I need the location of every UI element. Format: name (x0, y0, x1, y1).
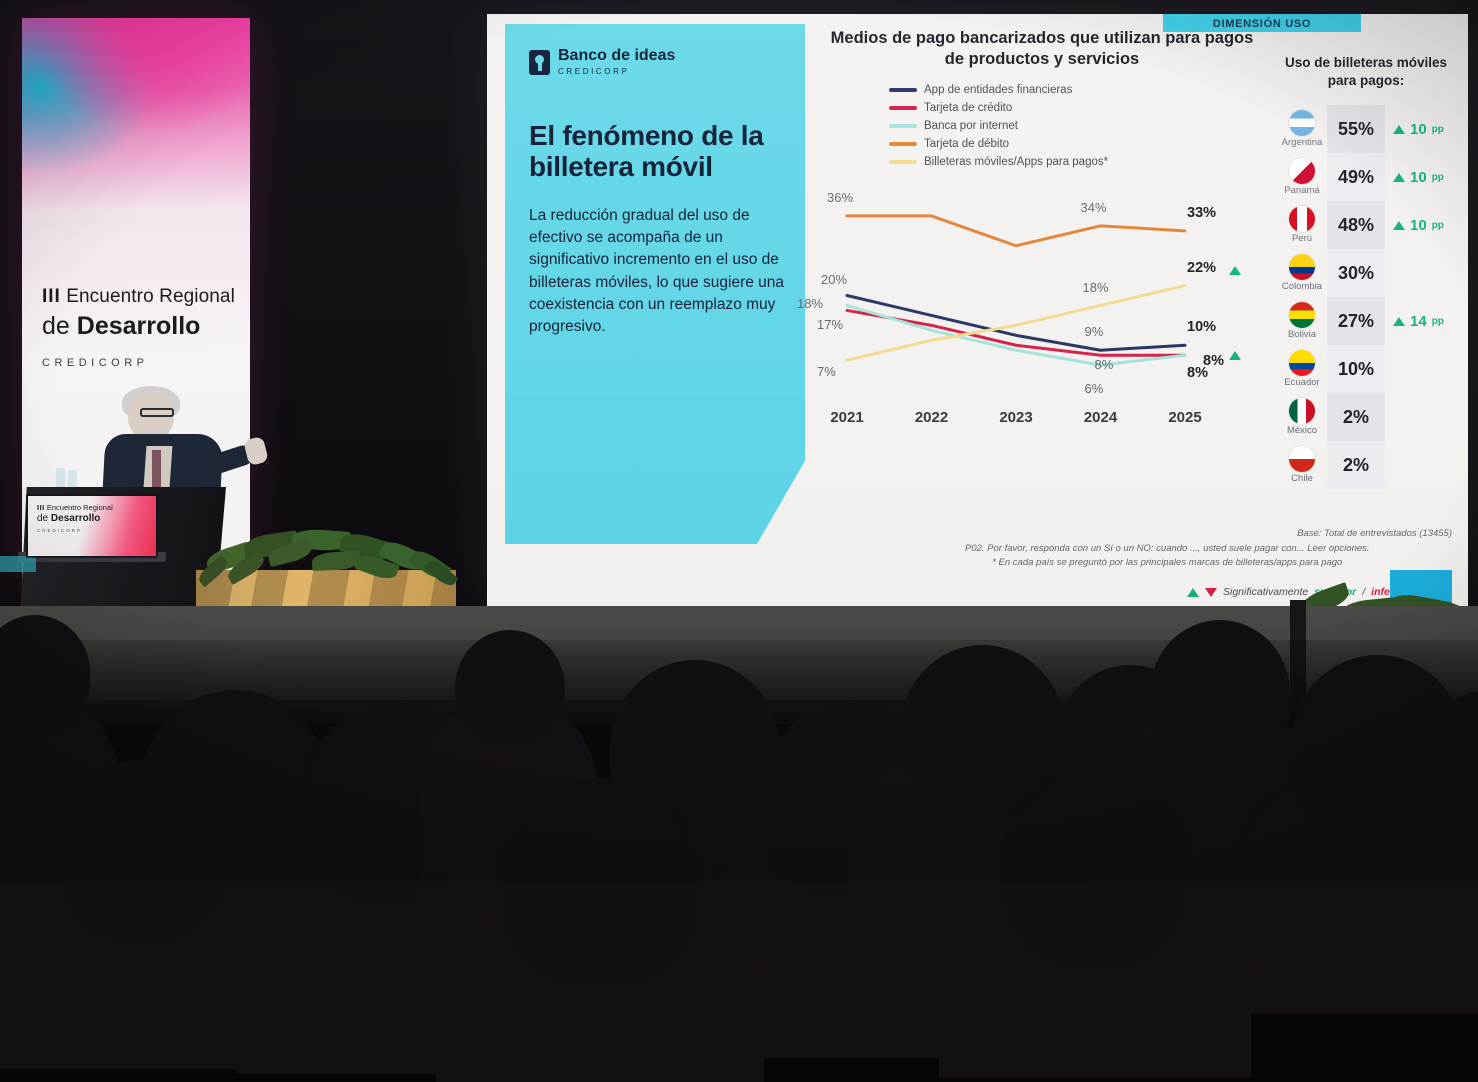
audience-head (1000, 770, 1190, 970)
chart-data-label: 9% (1085, 324, 1104, 339)
country-table: Argentina55%10ppPanamá49%10ppPerú48%10pp… (1277, 105, 1455, 489)
country-name: Panamá (1284, 185, 1319, 196)
country-name: Ecuador (1284, 377, 1319, 388)
country-flag-wrap: Argentina (1277, 110, 1327, 148)
brand-logo: Banco de ideas CREDICORP (529, 48, 785, 76)
flag-peru-icon (1289, 206, 1315, 232)
x-axis-tick: 2021 (830, 409, 863, 426)
country-block-title: Uso de billeteras móviles para pagos: (1277, 54, 1455, 89)
chart-data-label: 36% (827, 190, 853, 205)
chart-data-label: 6% (1085, 381, 1104, 396)
country-row: Ecuador10% (1277, 345, 1455, 393)
country-name: México (1287, 425, 1317, 436)
flag-ecuador-icon (1289, 350, 1315, 376)
audience-head (1150, 620, 1290, 767)
legend-label: Billeteras móviles/Apps para pagos* (924, 156, 1108, 168)
country-value: 48% (1327, 201, 1385, 249)
x-axis-tick: 2025 (1168, 409, 1201, 426)
country-usage-block: Uso de billeteras móviles para pagos: Ar… (1277, 54, 1455, 489)
country-delta: 10pp (1393, 121, 1444, 138)
country-name: Chile (1291, 473, 1313, 484)
chart-x-axis: 20212022202320242025 (817, 409, 1267, 435)
banco-de-ideas-logo-icon (529, 50, 550, 75)
country-flag-wrap: México (1277, 398, 1327, 436)
podium-accent (0, 556, 36, 572)
country-row: México2% (1277, 393, 1455, 441)
legend-label: Tarjeta de crédito (924, 102, 1012, 114)
flag-colombia-icon (1289, 254, 1315, 280)
country-value: 55% (1327, 105, 1385, 153)
chart-data-label: 7% (817, 364, 836, 379)
legend-item: Tarjeta de crédito (889, 102, 1267, 114)
legend-swatch (889, 160, 917, 164)
triangle-up-icon (1393, 317, 1405, 326)
chart-plot-area: 20%9%10%17%8%8%18%6%8%36%34%33%7%18%22% (817, 190, 1267, 405)
chart-block: Medios de pago bancarizados que utilizan… (817, 28, 1267, 435)
question-note-line2: * En cada país se preguntó por las princ… (965, 556, 1370, 570)
podium-sign: III Encuentro Regional de Desarrollo CRE… (28, 496, 156, 556)
country-delta-unit: pp (1432, 316, 1444, 327)
country-value: 2% (1327, 441, 1385, 489)
chart-data-label: 34% (1081, 200, 1107, 215)
triangle-up-icon (1187, 588, 1199, 597)
legend-label: Tarjeta de débito (924, 138, 1009, 150)
country-value: 49% (1327, 153, 1385, 201)
chart-data-label: 18% (1083, 280, 1109, 295)
country-name: Perú (1292, 233, 1312, 244)
flag-argentina-icon (1289, 110, 1315, 136)
chart-data-label: 8% (1203, 353, 1224, 369)
flag-chile-icon (1289, 446, 1315, 472)
country-delta-value: 10 (1410, 121, 1427, 138)
flag-mexico-icon (1289, 398, 1315, 424)
slide-left-panel: Banco de ideas CREDICORP El fenómeno de … (505, 24, 805, 544)
country-flag-wrap: Bolivia (1277, 302, 1327, 340)
brand-sub: CREDICORP (558, 67, 675, 76)
country-name: Argentina (1282, 137, 1323, 148)
country-delta-unit: pp (1432, 124, 1444, 135)
chart-line (847, 216, 1185, 246)
significance-separator: / (1362, 586, 1365, 598)
country-flag-wrap: Colombia (1277, 254, 1327, 292)
chart-data-label: 33% (1187, 205, 1216, 221)
triangle-up-icon (1393, 173, 1405, 182)
country-delta: 14pp (1393, 313, 1444, 330)
country-row: Panamá49%10pp (1277, 153, 1455, 201)
triangle-up-icon (1393, 221, 1405, 230)
country-row: Colombia30% (1277, 249, 1455, 297)
x-axis-tick: 2022 (915, 409, 948, 426)
question-note-line1: P02. Por favor, responda con un Sí o un … (965, 543, 1370, 554)
country-name: Bolivia (1288, 329, 1316, 340)
significance-triangle-up-icon (1229, 351, 1241, 360)
legend-swatch (889, 106, 917, 110)
slide-title: El fenómeno de la billetera móvil (529, 120, 785, 183)
poster-line-2: de Desarrollo (42, 312, 242, 341)
chart-data-label: 20% (821, 272, 847, 287)
significance-prefix: Significativamente (1223, 586, 1308, 598)
slide-body-text: La reducción gradual del uso de efectivo… (529, 205, 785, 339)
chart-data-label: 22% (1187, 260, 1216, 276)
country-row: Chile2% (1277, 441, 1455, 489)
chart-title: Medios de pago bancarizados que utilizan… (817, 28, 1267, 70)
country-value: 2% (1327, 393, 1385, 441)
chart-data-label: 10% (1187, 319, 1216, 335)
audience-head (455, 630, 565, 746)
country-delta: 10pp (1393, 217, 1444, 234)
speaker-glasses (140, 408, 174, 417)
podium-sign-brand: CREDICORP (37, 528, 156, 533)
poster-brand: CREDICORP (42, 357, 242, 369)
podium-sign-line-2: de Desarrollo (37, 513, 156, 524)
projection-screen: DIMENSIÓN USO Banco de ideas CREDICORP E… (487, 14, 1468, 609)
slide: DIMENSIÓN USO Banco de ideas CREDICORP E… (487, 14, 1468, 609)
triangle-down-icon (1205, 588, 1217, 597)
legend-item: App de entidades financieras (889, 84, 1267, 96)
legend-item: Banca por internet (889, 120, 1267, 132)
chart-data-label: 18% (797, 296, 823, 311)
country-value: 30% (1327, 249, 1385, 297)
legend-item: Tarjeta de débito (889, 138, 1267, 150)
flag-bolivia-icon (1289, 302, 1315, 328)
chart-line (847, 296, 1185, 351)
country-name: Colombia (1282, 281, 1322, 292)
auditorium-scene: III Encuentro Regional de Desarrollo CRE… (0, 0, 1478, 882)
country-delta: 10pp (1393, 169, 1444, 186)
country-value: 27% (1327, 297, 1385, 345)
chart-data-label: 8% (1095, 357, 1114, 372)
country-delta-value: 10 (1410, 217, 1427, 234)
country-flag-wrap: Chile (1277, 446, 1327, 484)
significance-triangle-up-icon (1229, 266, 1241, 275)
country-value: 10% (1327, 345, 1385, 393)
brand-name: Banco de ideas (558, 48, 675, 64)
country-flag-wrap: Perú (1277, 206, 1327, 244)
question-note: P02. Por favor, responda con un Sí o un … (965, 542, 1370, 571)
chart-data-label: 17% (817, 317, 843, 332)
poster-line-1: III Encuentro Regional (42, 286, 242, 308)
country-delta-unit: pp (1432, 220, 1444, 231)
country-delta-value: 14 (1410, 313, 1427, 330)
country-row: Perú48%10pp (1277, 201, 1455, 249)
country-row: Argentina55%10pp (1277, 105, 1455, 153)
chart-legend: App de entidades financierasTarjeta de c… (889, 84, 1267, 168)
audience-head (500, 778, 700, 988)
country-delta-unit: pp (1432, 172, 1444, 183)
flag-panama-icon (1289, 158, 1315, 184)
legend-swatch (889, 124, 917, 128)
country-flag-wrap: Panamá (1277, 158, 1327, 196)
legend-swatch (889, 142, 917, 146)
legend-item: Billeteras móviles/Apps para pagos* (889, 156, 1267, 168)
legend-label: Banca por internet (924, 120, 1018, 132)
x-axis-tick: 2023 (999, 409, 1032, 426)
country-flag-wrap: Ecuador (1277, 350, 1327, 388)
x-axis-tick: 2024 (1084, 409, 1117, 426)
country-row: Bolivia27%14pp (1277, 297, 1455, 345)
legend-swatch (889, 88, 917, 92)
audience-head (55, 760, 230, 944)
podium-sign-line-1: III Encuentro Regional (37, 503, 156, 512)
country-delta-value: 10 (1410, 169, 1427, 186)
poster-numeral: III (42, 286, 61, 307)
poster-text: III Encuentro Regional de Desarrollo CRE… (42, 286, 242, 369)
triangle-up-icon (1393, 125, 1405, 134)
base-note: Base: Total de entrevistados (13455) (1297, 528, 1452, 539)
legend-label: App de entidades financieras (924, 84, 1072, 96)
